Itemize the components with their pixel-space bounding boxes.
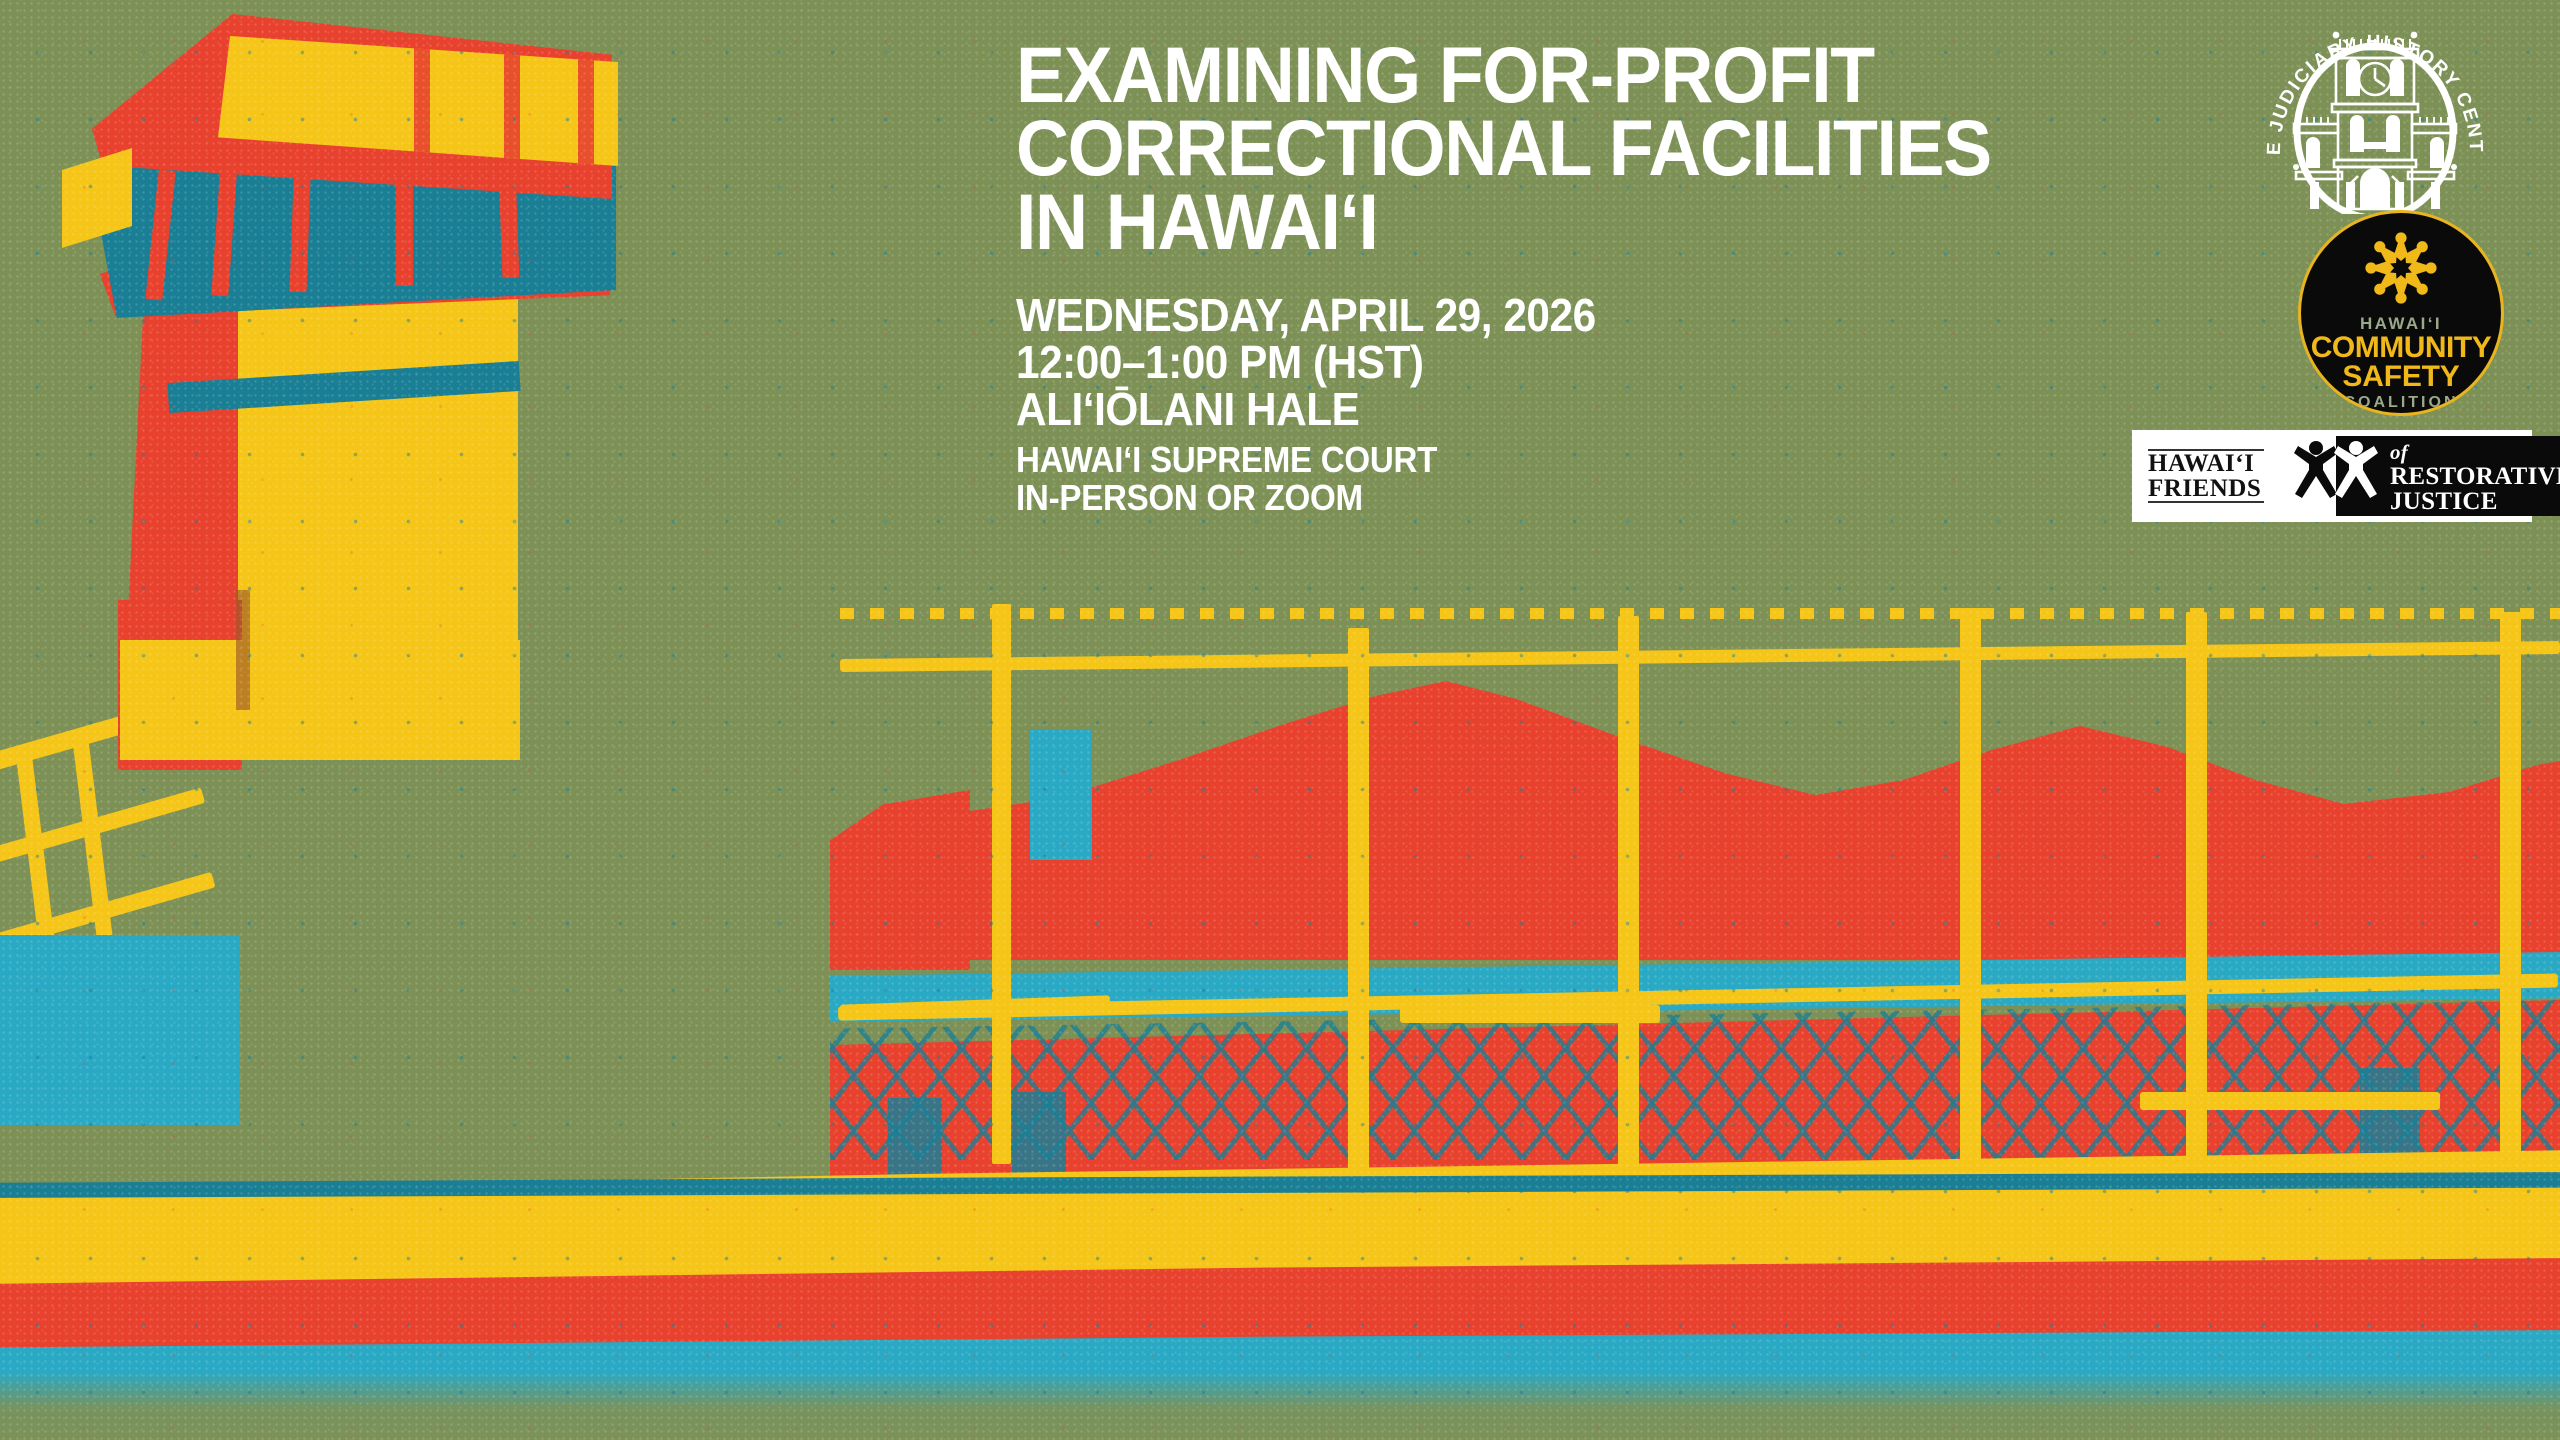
logo-stack: THE JUDICIARY HISTORY CENTER [2180,10,2560,610]
left-teal-slab [0,935,240,1125]
hfrj-figures-icon [2290,436,2382,516]
hfrj-connector: of [2390,440,2408,464]
tower-base-yellow [120,640,520,760]
headline-line-2: CORRECTIONAL FACILITIES [1016,111,2113,184]
ground-fade [0,1352,2560,1440]
headline-line-3: IN HAWAI‘I [1016,185,2113,258]
headline-line-1: EXAMINING FOR-PROFIT [1016,38,2113,111]
event-venue-sub: HAWAI‘I SUPREME COURT [1016,441,2102,478]
hfrj-restorative: RESTORATIVE [2390,463,2560,490]
poster: EXAMINING FOR-PROFIT CORRECTIONAL FACILI… [0,0,2560,1440]
chimney-vent [1030,730,1092,860]
fence-post [1618,616,1639,1186]
fence-top-rail [840,641,2560,672]
event-time: 12:00–1:00 PM (HST) [1016,339,2102,386]
starburst-figures-icon [2359,229,2443,312]
fence-brace [2140,1092,2440,1110]
tower-door-slot [236,590,250,710]
community-safety-coalition-logo: HAWAI‘I COMMUNITY SAFETY COALITION [2298,210,2504,416]
csc-line-coalition: COALITION [2344,394,2459,412]
fence-post [2186,612,2207,1172]
chain-link-mesh [830,1000,2560,1160]
fence-post [1960,608,1981,1168]
hfrj-right-panel: of RESTORATIVE JUSTICE [2382,436,2560,516]
csc-line-safety: SAFETY [2342,363,2459,392]
judiciary-history-center-logo: THE JUDICIARY HISTORY CENTER [2250,24,2500,214]
hfrj-left-line-1: HAWAI‘I [2148,451,2254,476]
event-text-block: EXAMINING FOR-PROFIT CORRECTIONAL FACILI… [1016,38,2196,516]
fence-post [2500,612,2521,1172]
hfrj-left-panel: HAWAI‘I FRIENDS [2138,436,2290,516]
hfrj-right-line-1: of RESTORATIVE [2390,439,2560,489]
event-details: WEDNESDAY, APRIL 29, 2026 12:00–1:00 PM … [1016,292,2102,516]
event-date: WEDNESDAY, APRIL 29, 2026 [1016,292,2102,339]
event-format: IN-PERSON OR ZOOM [1016,479,2102,516]
page-title: EXAMINING FOR-PROFIT CORRECTIONAL FACILI… [1016,38,2113,258]
hfrj-left-line-2: FRIENDS [2148,476,2261,501]
hfrj-rule-bottom [2148,501,2264,503]
hfrj-justice: JUSTICE [2390,489,2498,514]
fence-post [1348,628,1369,1188]
fence-post [992,604,1011,1164]
hawaii-friends-restorative-justice-logo: HAWAI‘I FRIENDS [2132,430,2532,522]
csc-line-community: COMMUNITY [2311,334,2491,363]
event-venue: ALI‘IŌLANI HALE [1016,386,2102,433]
